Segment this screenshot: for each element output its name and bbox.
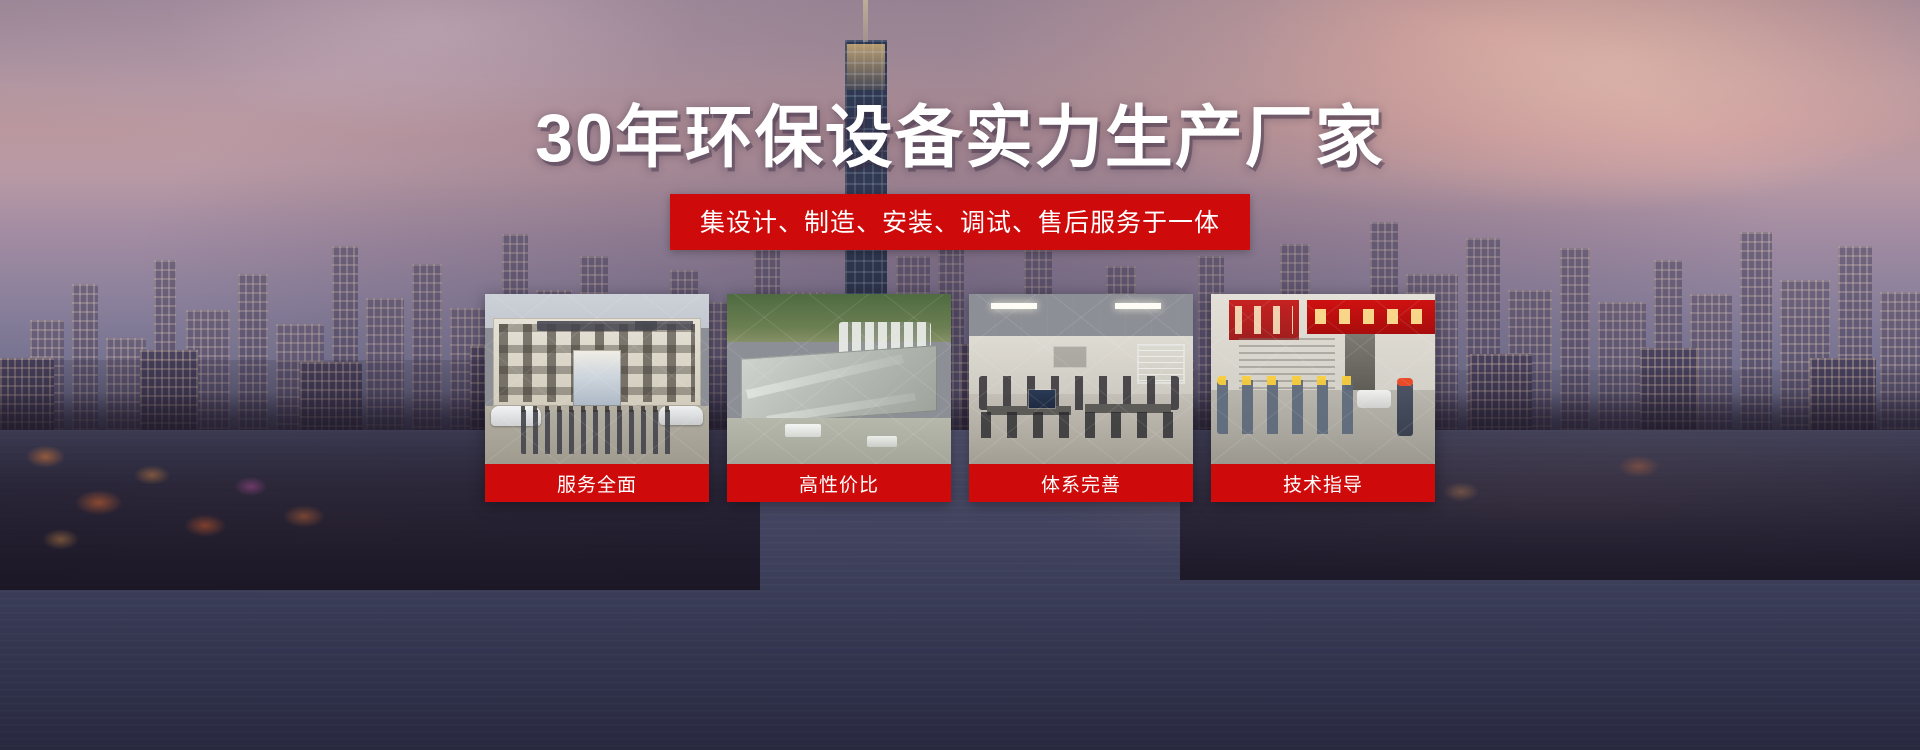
card-photo-aerial-view-industrial-plant [727,294,951,464]
feature-card[interactable]: 体系完善 [969,294,1193,502]
card-photo-workshop-workers-with-helmets [1211,294,1435,464]
card-photo-company-office-building-with-staff [485,294,709,464]
hero-banner: 30年环保设备实力生产厂家 集设计、制造、安装、调试、售后服务于一体 服务全 [0,0,1920,750]
banner-content: 30年环保设备实力生产厂家 集设计、制造、安装、调试、售后服务于一体 服务全 [0,0,1920,750]
banner-subtitle-bar: 集设计、制造、安装、调试、售后服务于一体 [670,194,1250,250]
card-caption: 高性价比 [727,464,951,502]
card-caption: 服务全面 [485,464,709,502]
card-caption: 体系完善 [969,464,1193,502]
feature-card[interactable]: 技术指导 [1211,294,1435,502]
feature-card[interactable]: 服务全面 [485,294,709,502]
banner-headline: 30年环保设备实力生产厂家 [535,104,1385,172]
card-caption: 技术指导 [1211,464,1435,502]
feature-card[interactable]: 高性价比 [727,294,951,502]
feature-card-list: 服务全面 高性价比 [485,294,1435,502]
card-photo-office-interior-team-working [969,294,1193,464]
building-phone-number [635,321,693,330]
